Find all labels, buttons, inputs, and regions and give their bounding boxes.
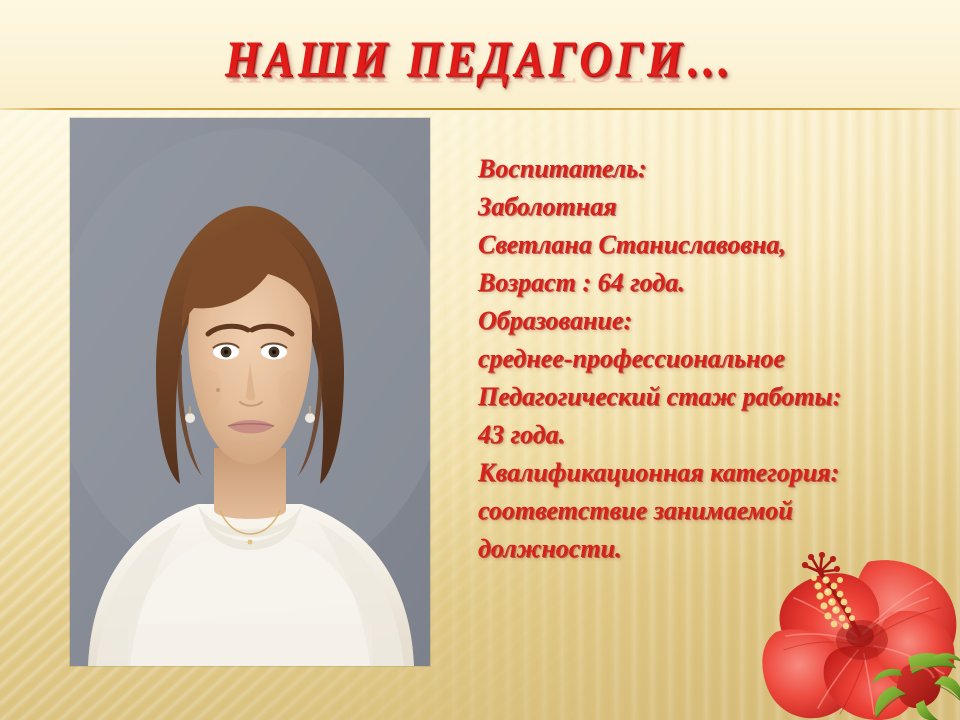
info-line-experience-value: 43 года. [478, 416, 928, 454]
teacher-photo [70, 118, 430, 666]
info-line-education-label: Образование: [478, 302, 928, 340]
info-line-given-name: Светлана Станиславовна, [478, 226, 928, 264]
info-line-category-value-2: должности. [478, 530, 928, 568]
info-line-category-value-1: соответствие занимаемой [478, 492, 928, 530]
slide-background-top-band [0, 0, 960, 108]
info-line-role: Воспитатель: [478, 150, 928, 188]
info-line-surname: Заболотная [478, 188, 928, 226]
slide-canvas: НАШИ ПЕДАГОГИ… НАШИ ПЕДАГОГИ… [0, 0, 960, 720]
title-divider-rule [0, 108, 960, 110]
teacher-info-block: Воспитатель: Заболотная Светлана Станисл… [478, 150, 928, 568]
info-line-experience-label: Педагогический стаж работы: [478, 378, 928, 416]
info-line-education-value: среднее-профессиональное [478, 340, 928, 378]
info-line-age: Возраст : 64 года. [478, 264, 928, 302]
info-line-category-label: Квалификационная категория: [478, 454, 928, 492]
